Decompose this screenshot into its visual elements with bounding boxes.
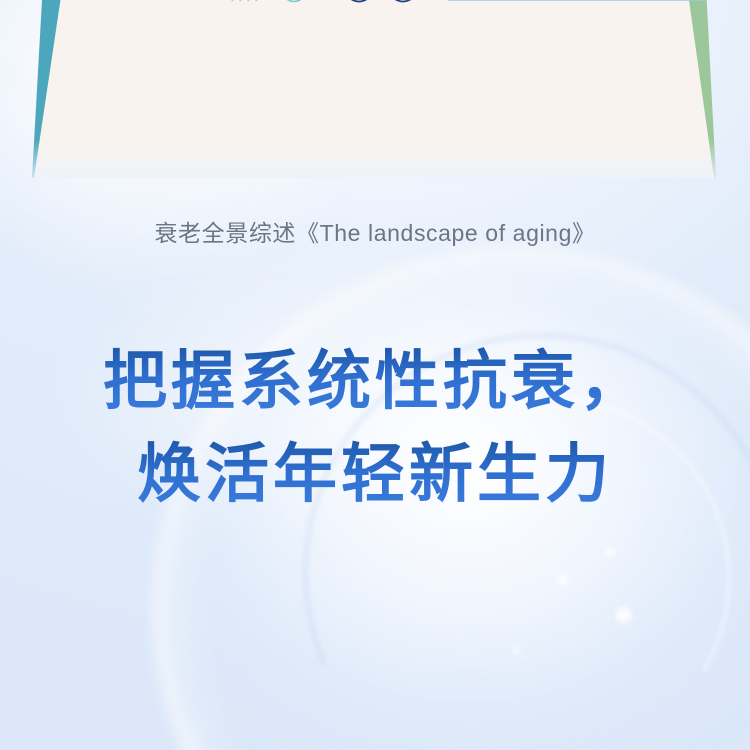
- headline-line-2: 焕活年轻新生力: [0, 429, 750, 522]
- bubble-sparkle: [616, 607, 632, 623]
- bubble-sparkle: [513, 647, 520, 654]
- card-bottom-fade: [0, 140, 750, 180]
- aging-mechanism-card: 基因组不稳定性 表观遗传改变 线粒体功能异常: [0, 0, 750, 180]
- review-subtitle: 衰老全景综述《The landscape of aging》: [0, 214, 750, 248]
- poster-canvas: 基因组不稳定性 表观遗传改变 线粒体功能异常: [0, 0, 750, 750]
- dna-illustration-row: [0, 0, 750, 10]
- dna-helix-svg: [0, 0, 750, 10]
- bubble-sparkle: [557, 574, 568, 585]
- genome-instability-art: [195, 0, 414, 2]
- main-headline: 把握系统性抗衰， 焕活年轻新生力: [0, 336, 750, 523]
- headline-line-1: 把握系统性抗衰，: [0, 336, 750, 429]
- bubble-sparkle: [606, 548, 615, 557]
